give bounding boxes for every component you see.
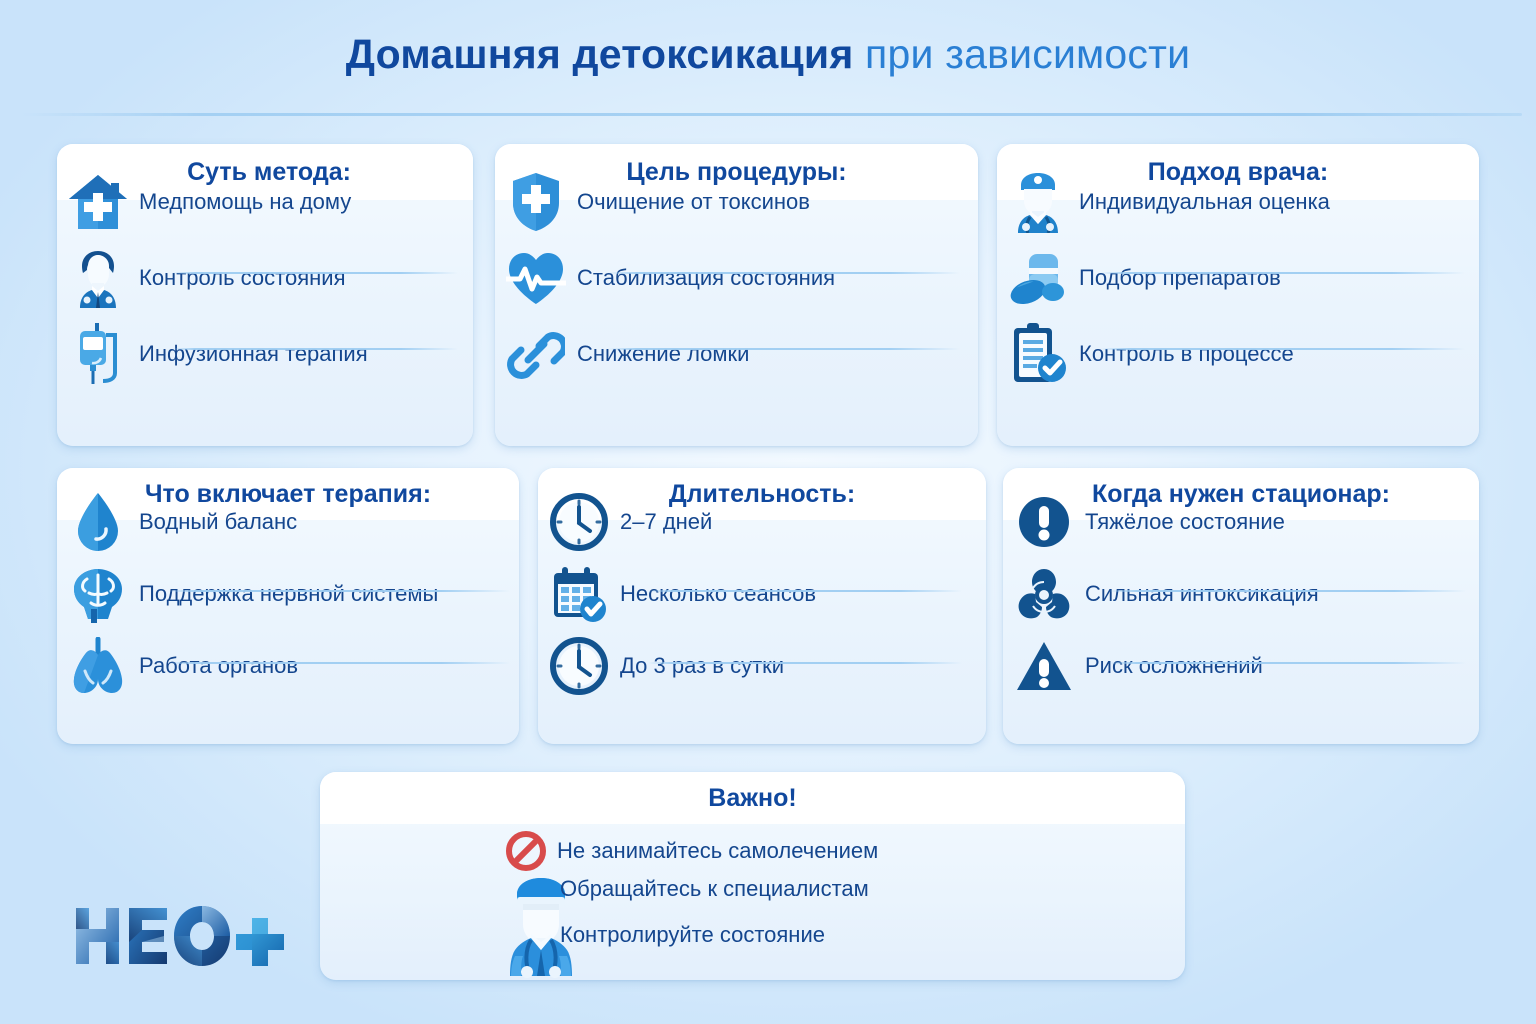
important-items-list: Не занимайтесь самолечением Обращайтесь … bbox=[320, 824, 1185, 980]
item-separator bbox=[1100, 272, 1465, 274]
card-list-item-label: Тяжёлое состояние bbox=[1085, 510, 1285, 534]
pills-icon bbox=[997, 250, 1079, 306]
card-list-item: 2–7 дней bbox=[538, 488, 986, 556]
important-card-header: Важно! bbox=[320, 772, 1185, 824]
doctor-person-icon bbox=[57, 248, 139, 308]
important-item-label: Контролируйте состояние bbox=[560, 922, 825, 948]
doctor-cap-icon bbox=[997, 171, 1079, 233]
shield-cross-icon bbox=[495, 171, 577, 233]
card-list-item: Риск осложнений bbox=[1003, 632, 1479, 700]
card-list-item-label: Риск осложнений bbox=[1085, 654, 1263, 678]
item-separator bbox=[1108, 662, 1466, 664]
card-list-item-label: Снижение ломки bbox=[577, 342, 749, 366]
prohibition-icon bbox=[505, 830, 547, 872]
card-list-item-label: 2–7 дней bbox=[620, 510, 712, 534]
page-title-wrap: Домашняя детоксикация при зависимости bbox=[0, 34, 1536, 75]
clock-icon bbox=[538, 493, 620, 551]
card-list-item-label: Подбор препаратов bbox=[1079, 266, 1281, 290]
card-list-item: Сильная интоксикация bbox=[1003, 560, 1479, 628]
important-card-title: Важно! bbox=[708, 784, 796, 813]
exclamation-circle-icon bbox=[1003, 495, 1085, 549]
house-medical-icon bbox=[57, 173, 139, 231]
item-separator bbox=[608, 272, 960, 274]
heart-pulse-icon bbox=[495, 250, 577, 306]
chain-link-icon bbox=[495, 326, 577, 382]
brain-icon bbox=[57, 565, 139, 623]
item-separator bbox=[608, 348, 960, 350]
card-list-item: Очищение от токсинов bbox=[495, 167, 978, 237]
card-list-item: До 3 раз в сутки bbox=[538, 632, 986, 700]
card-list-item-label: До 3 раз в сутки bbox=[620, 654, 784, 678]
item-separator bbox=[1108, 590, 1466, 592]
calendar-check-icon bbox=[538, 565, 620, 623]
item-separator bbox=[172, 272, 458, 274]
card-list-item-label: Инфузионная терапия bbox=[139, 342, 368, 366]
clock-icon bbox=[538, 637, 620, 695]
title-divider bbox=[22, 113, 1522, 116]
important-item-label: Не занимайтесь самолечением bbox=[557, 838, 878, 864]
card-list-item-label: Поддержка нервной системы bbox=[139, 582, 438, 606]
warning-triangle-icon bbox=[1003, 639, 1085, 693]
biohazard-icon bbox=[1003, 566, 1085, 622]
important-item-label: Обращайтесь к специалистам bbox=[560, 876, 869, 902]
card-list-item-label: Сильная интоксикация bbox=[1085, 582, 1319, 606]
card-list-item: Медпомощь на дому bbox=[57, 167, 473, 237]
neo-plus-logo bbox=[72, 902, 287, 972]
water-drop-icon bbox=[57, 491, 139, 553]
card-list-item: Поддержка нервной системы bbox=[57, 560, 519, 628]
card-list-item: Снижение ломки bbox=[495, 319, 978, 389]
card-list-item-label: Контроль в процессе bbox=[1079, 342, 1294, 366]
clipboard-check-icon bbox=[997, 322, 1079, 386]
card-list-item: Тяжёлое состояние bbox=[1003, 488, 1479, 556]
page-title: Домашняя детоксикация при зависимости bbox=[0, 34, 1536, 75]
item-separator bbox=[168, 662, 510, 664]
card-list-item-label: Контроль состояния bbox=[139, 266, 346, 290]
card-list-item-label: Стабилизация состояния bbox=[577, 266, 835, 290]
iv-drip-icon bbox=[57, 321, 139, 387]
card-list-item-label: Индивидуальная оценка bbox=[1079, 190, 1330, 214]
item-separator bbox=[172, 348, 458, 350]
card-list-item: Контроль в процессе bbox=[997, 319, 1479, 389]
card-list-item-label: Медпомощь на дому bbox=[139, 190, 351, 214]
card-list-item: Индивидуальная оценка bbox=[997, 167, 1479, 237]
card-list-item: Контроль состояния bbox=[57, 243, 473, 313]
item-separator bbox=[1100, 348, 1465, 350]
card-list-item-label: Работа органов bbox=[139, 654, 298, 678]
card-list-item-label: Несколько сеансов bbox=[620, 582, 816, 606]
card-list-item: Несколько сеансов bbox=[538, 560, 986, 628]
lungs-icon bbox=[57, 637, 139, 695]
card-list-item: Работа органов bbox=[57, 632, 519, 700]
item-separator bbox=[168, 590, 510, 592]
important-card: Важно! bbox=[320, 772, 1185, 980]
item-separator bbox=[648, 662, 962, 664]
card-list-item: Подбор препаратов bbox=[997, 243, 1479, 313]
page-title-bold: Домашняя детоксикация bbox=[346, 31, 854, 77]
card-list-item: Инфузионная терапия bbox=[57, 319, 473, 389]
card-list-item: Стабилизация состояния bbox=[495, 243, 978, 313]
card-list-item-label: Очищение от токсинов bbox=[577, 190, 810, 214]
item-separator bbox=[648, 590, 962, 592]
card-list-item-label: Водный баланс bbox=[139, 510, 297, 534]
card-list-item: Водный баланс bbox=[57, 488, 519, 556]
page-title-light: при зависимости bbox=[853, 31, 1190, 77]
